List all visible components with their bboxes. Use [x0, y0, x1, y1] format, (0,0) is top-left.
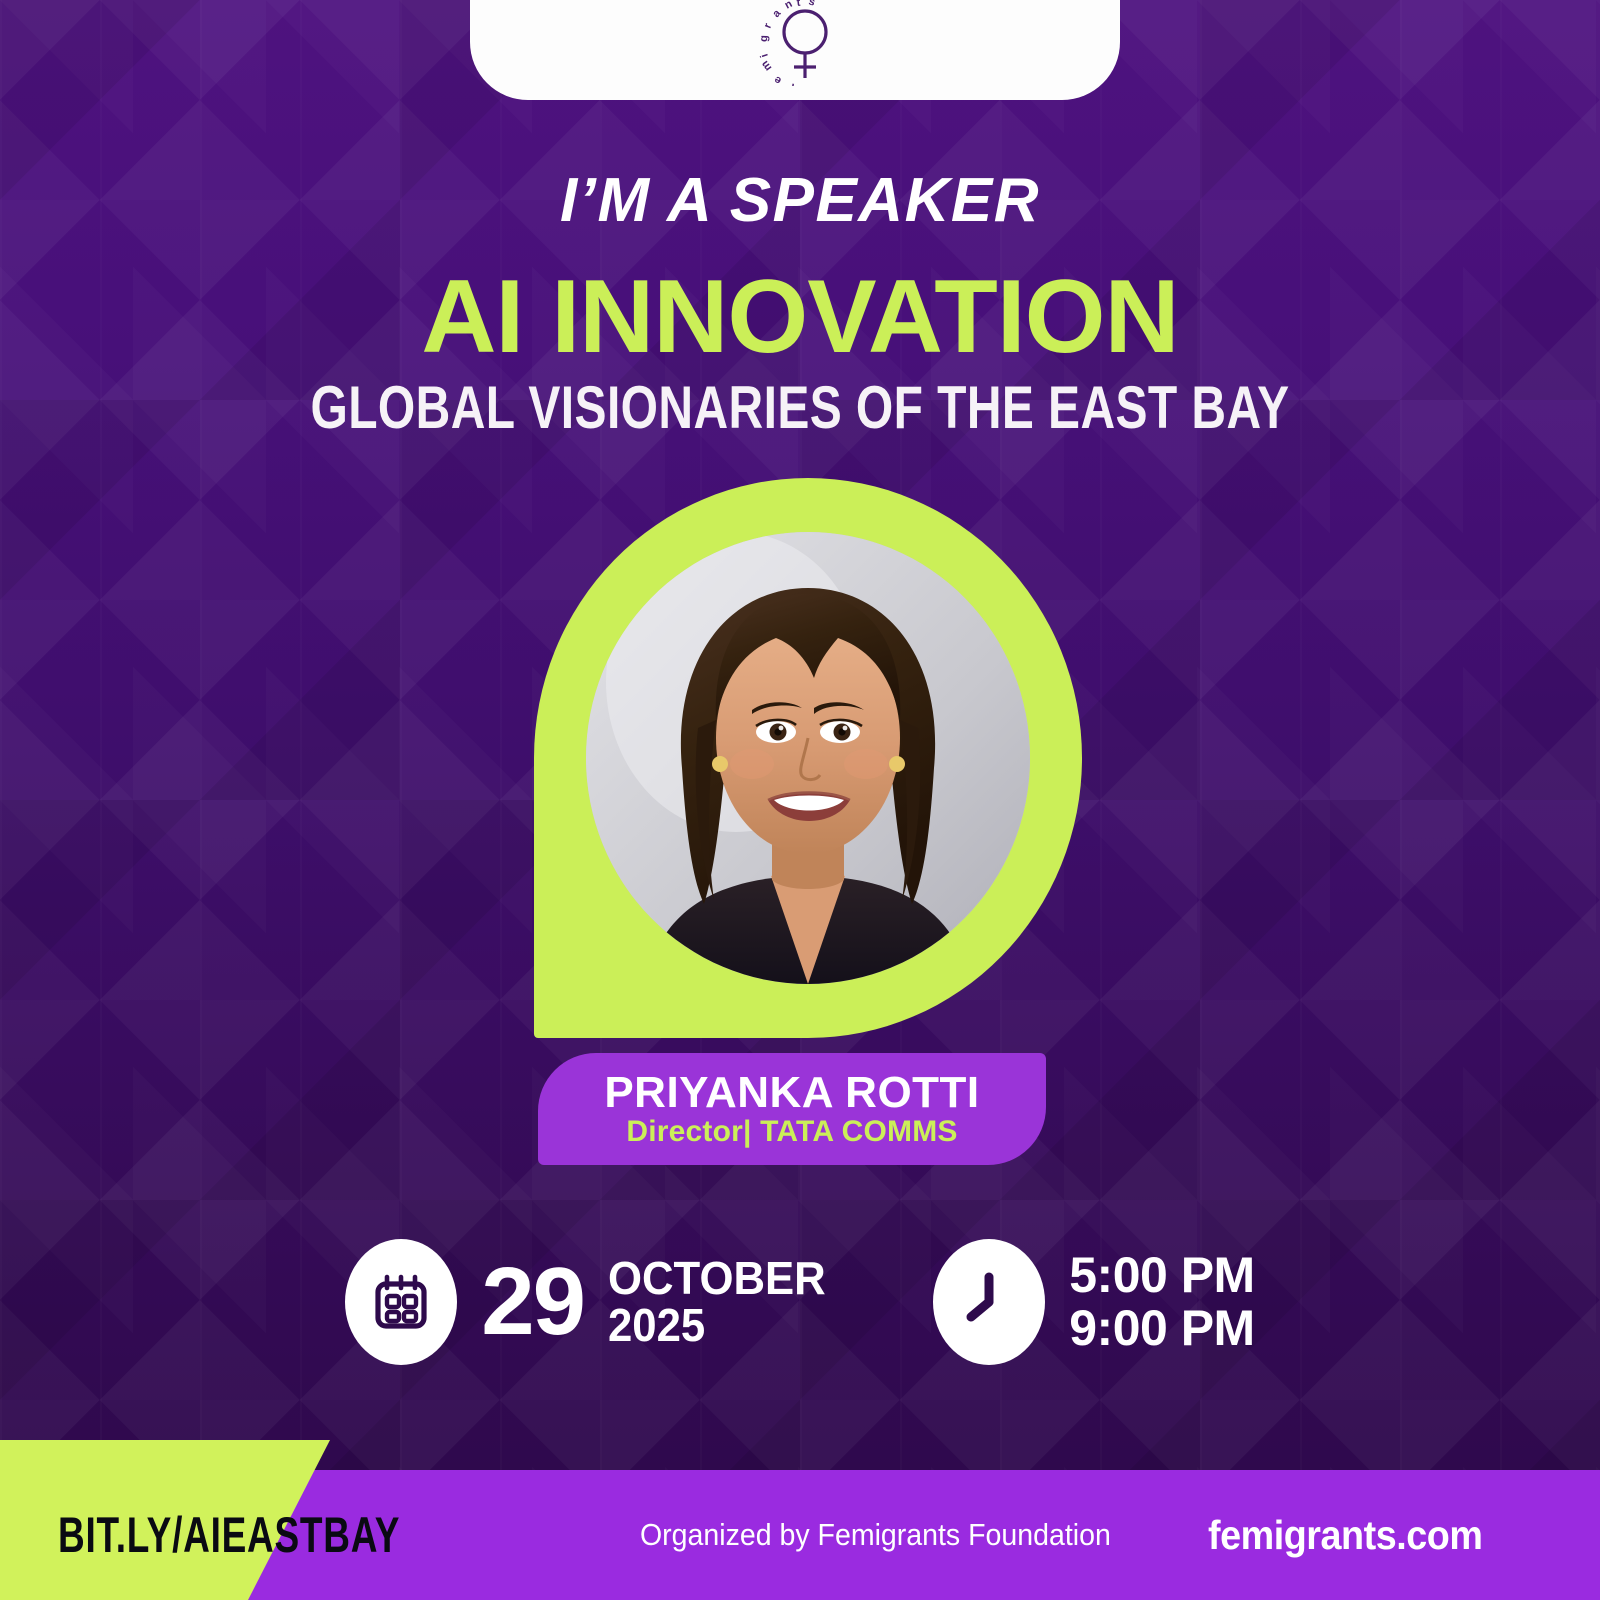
- venus-symbol-icon: s t n a r g i m e f: [747, 0, 843, 86]
- speaker-photo-frame: [534, 478, 1082, 1038]
- event-details-row: 29 OCTOBER 2025 5:00 PM 9:00 PM: [0, 1232, 1600, 1372]
- clock-icon: [933, 1239, 1045, 1365]
- event-time: 5:00 PM 9:00 PM: [1069, 1249, 1254, 1355]
- calendar-icon: [345, 1239, 457, 1365]
- svg-text:a: a: [770, 7, 784, 20]
- svg-text:t: t: [796, 0, 801, 9]
- brand-logo-tab: s t n a r g i m e f: [470, 0, 1120, 100]
- speaker-name-banner: PRIYANKA ROTTI Director| TATA COMMS: [538, 1053, 1046, 1165]
- website-link[interactable]: femigrants.com: [1208, 1512, 1482, 1559]
- organizer-label: Organized by Femigrants Foundation: [640, 1517, 1111, 1553]
- svg-text:s: s: [807, 0, 817, 9]
- speaker-photo: [586, 532, 1030, 984]
- event-time-start: 5:00 PM: [1069, 1249, 1254, 1302]
- svg-text:f: f: [790, 80, 796, 86]
- svg-text:n: n: [783, 0, 795, 12]
- event-date-block: 29 OCTOBER 2025: [345, 1239, 837, 1365]
- event-flyer: s t n a r g i m e f I’M A SPEAKER AI INN…: [0, 0, 1600, 1600]
- speaker-portrait-illustration: [586, 532, 1030, 984]
- registration-link[interactable]: BIT.LY/AIEASTBAY: [58, 1506, 400, 1564]
- svg-text:r: r: [762, 21, 775, 30]
- speaker-name: PRIYANKA ROTTI: [604, 1071, 979, 1115]
- event-time-block: 5:00 PM 9:00 PM: [933, 1239, 1254, 1365]
- femigrants-logo: s t n a r g i m e f: [747, 0, 843, 86]
- event-month: OCTOBER: [608, 1255, 826, 1302]
- svg-text:i: i: [758, 52, 770, 59]
- event-day: 29: [481, 1259, 584, 1345]
- event-subtitle: GLOBAL VISIONARIES OF THE EAST BAY: [160, 378, 1440, 438]
- event-year: 2025: [608, 1302, 826, 1349]
- svg-text:m: m: [759, 58, 775, 73]
- event-time-end: 9:00 PM: [1069, 1302, 1254, 1355]
- speaker-tagline: I’M A SPEAKER: [0, 165, 1600, 236]
- speaker-role: Director| TATA COMMS: [626, 1117, 957, 1147]
- svg-text:e: e: [772, 73, 783, 86]
- event-month-year: OCTOBER 2025: [608, 1255, 837, 1349]
- event-title: AI INNOVATION: [0, 265, 1600, 369]
- footer-text-group: Organized by Femigrants Foundation femig…: [640, 1470, 1506, 1600]
- svg-text:g: g: [758, 35, 770, 42]
